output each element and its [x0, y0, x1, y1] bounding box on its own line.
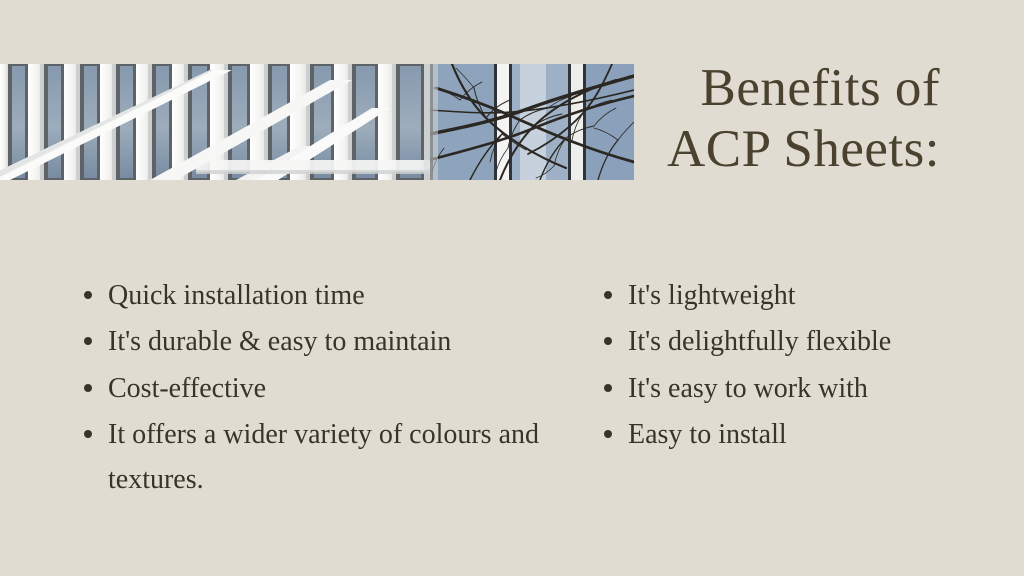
- benefits-list-left: Quick installation time It's durable & e…: [78, 273, 578, 504]
- list-item: It's durable & easy to maintain: [78, 319, 578, 364]
- page-title-line-1: Benefits of: [520, 58, 940, 119]
- bullet-dot-icon: [604, 291, 612, 299]
- benefits-list-left-items: Quick installation time It's durable & e…: [78, 273, 578, 503]
- bullet-dot-icon: [84, 291, 92, 299]
- list-item-label: It's durable & easy to maintain: [108, 319, 578, 364]
- bullet-dot-icon: [604, 384, 612, 392]
- list-item-label: It's lightweight: [628, 273, 998, 318]
- bullet-dot-icon: [604, 337, 612, 345]
- list-item: It's easy to work with: [598, 366, 998, 411]
- list-item-label: Quick installation time: [108, 273, 578, 318]
- list-item-label: It's delightfully flexible: [628, 319, 998, 364]
- bullet-dot-icon: [84, 337, 92, 345]
- list-item: Easy to install: [598, 412, 998, 457]
- bullet-dot-icon: [84, 430, 92, 438]
- list-item-label: Easy to install: [628, 412, 998, 457]
- bullet-dot-icon: [84, 384, 92, 392]
- benefits-list-right-items: It's lightweight It's delightfully flexi…: [598, 273, 998, 457]
- list-item-label: It's easy to work with: [628, 366, 998, 411]
- page-title-line-2: ACP Sheets:: [520, 119, 940, 180]
- bullet-dot-icon: [604, 430, 612, 438]
- list-item: It's lightweight: [598, 273, 998, 318]
- list-item-label: It offers a wider variety of colours and…: [108, 412, 578, 503]
- list-item: It's delightfully flexible: [598, 319, 998, 364]
- benefits-list-right: It's lightweight It's delightfully flexi…: [598, 273, 998, 458]
- slide-canvas: Benefits of ACP Sheets: Quick installati…: [0, 0, 1024, 576]
- list-item: Cost-effective: [78, 366, 578, 411]
- list-item: Quick installation time: [78, 273, 578, 318]
- page-title: Benefits of ACP Sheets:: [520, 58, 940, 181]
- list-item: It offers a wider variety of colours and…: [78, 412, 578, 503]
- list-item-label: Cost-effective: [108, 366, 578, 411]
